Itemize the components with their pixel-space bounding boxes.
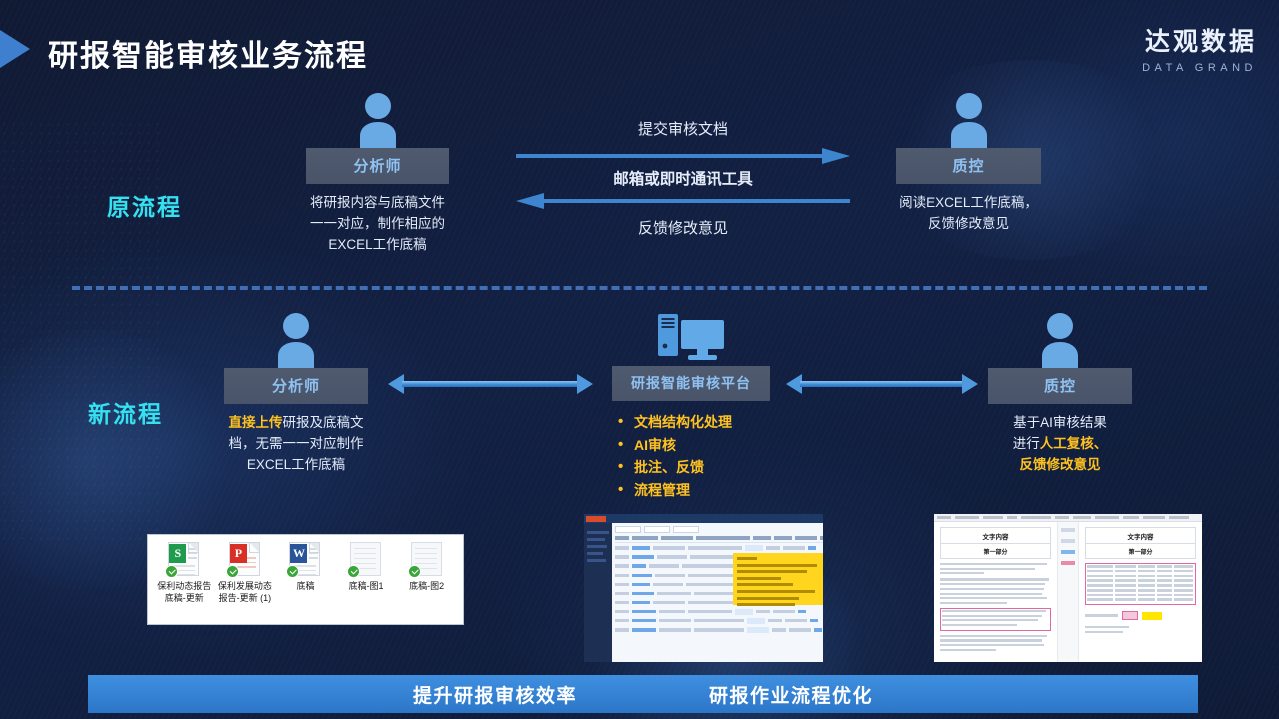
new-flow-row-label: 新流程 [88, 395, 163, 429]
new-flow-analyst-desc-highlight: 直接上传 [229, 415, 283, 430]
new-flow-qc-desc-lead: 基于AI审核结果 [1013, 415, 1107, 430]
role-chip-analyst-old: 分析师 [306, 148, 449, 184]
new-flow-qc-node: 质控 基于AI审核结果进行人工复核、反馈修改意见 [988, 312, 1132, 476]
old-flow-arrow-bottom-label: 反馈修改意见 [516, 217, 850, 238]
file-badge: S [169, 544, 186, 563]
list-item: 文档结构化处理 [612, 411, 770, 434]
list-item: 批注、反馈 [612, 456, 770, 479]
new-flow-qc-desc: 基于AI审核结果进行人工复核、反馈修改意见 [988, 413, 1132, 476]
file-badge: W [290, 544, 307, 563]
list-item: 流程管理 [612, 479, 770, 502]
compare-right-pane: 文字内容 第一部分 [1079, 522, 1202, 662]
spreadsheet-file-icon: S [168, 542, 200, 576]
doc-title-left: 文字内容 [940, 527, 1051, 544]
image-file-icon [350, 542, 382, 576]
old-flow-qc-node: 质控 阅读EXCEL工作底稿，反馈修改意见 [896, 92, 1041, 235]
old-flow-analyst-node: 分析师 将研报内容与底稿文件一一对应，制作相应的EXCEL工作底稿 [306, 92, 449, 256]
role-chip-platform: 研报智能审核平台 [612, 366, 770, 401]
file-name: 底稿 [277, 581, 334, 593]
arrow-right-submit [516, 148, 850, 164]
file-item-spreadsheet[interactable]: S 保利动态报告底稿-更新 [156, 542, 213, 624]
old-flow-qc-desc: 阅读EXCEL工作底稿，反馈修改意见 [896, 193, 1041, 235]
arrow-left-feedback [516, 193, 850, 209]
pdf-file-icon: P [229, 542, 261, 576]
document-compare-screenshot[interactable]: 文字内容 第一部分 文字内容 第一部分 [934, 514, 1202, 662]
file-name: 底稿-图1 [338, 581, 395, 593]
check-icon [226, 565, 239, 578]
new-flow-qc-desc-hl2: 反馈修改意见 [1020, 457, 1101, 472]
doc-subtitle-left: 第一部分 [940, 544, 1051, 559]
new-flow-platform-node: 研报智能审核平台 文档结构化处理 AI审核 批注、反馈 流程管理 [612, 310, 770, 502]
file-name: 底稿-图2 [398, 581, 455, 593]
annotation-tooltip [733, 553, 823, 605]
old-flow-arrow-group: 提交审核文档 邮箱或即时通讯工具 反馈修改意见 [516, 118, 850, 238]
person-icon [1034, 312, 1086, 368]
doc-subtitle-right: 第一部分 [1085, 544, 1196, 559]
list-item: AI审核 [612, 434, 770, 457]
word-file-icon: W [289, 542, 321, 576]
desktop-computer-icon [655, 310, 727, 366]
background-dot-pattern [0, 120, 160, 540]
file-item-word[interactable]: W 底稿 [277, 542, 334, 624]
new-flow-analyst-desc: 直接上传研报及底稿文档，无需一一对应制作EXCEL工作底稿 [224, 413, 368, 476]
new-flow-qc-desc-lead2: 进行 [1013, 436, 1040, 451]
banner-right-text: 研报作业流程优化 [709, 681, 873, 708]
old-flow-row-label: 原流程 [107, 188, 182, 222]
role-chip-qc-old: 质控 [896, 148, 1041, 184]
screenshot-toolbar [934, 514, 1202, 522]
new-flow-analyst-node: 分析师 直接上传研报及底稿文档，无需一一对应制作EXCEL工作底稿 [224, 312, 368, 476]
check-icon [286, 565, 299, 578]
page-title: 研报智能审核业务流程 [48, 31, 368, 75]
brand-logo-en: DATA GRAND [1142, 62, 1257, 74]
file-name: 保利动态报告底稿-更新 [156, 581, 213, 604]
person-icon [943, 92, 995, 148]
old-flow-arrow-middle-label: 邮箱或即时通讯工具 [516, 167, 850, 189]
file-item-image-2[interactable]: 底稿-图2 [398, 542, 455, 624]
flow-divider [72, 286, 1207, 290]
brand-logo: 达观数据 DATA GRAND [1142, 22, 1257, 74]
old-flow-arrow-top-label: 提交审核文档 [516, 118, 850, 139]
check-icon [408, 565, 421, 578]
file-item-image-1[interactable]: 底稿-图1 [338, 542, 395, 624]
bottom-banner: 提升研报审核效率 研报作业流程优化 [88, 675, 1198, 713]
file-name: 保利发展动态报告-更新 (1) [216, 581, 273, 604]
header-triangle-icon [0, 30, 30, 68]
arrow-double-platform-qc [786, 374, 978, 394]
brand-logo-cn: 达观数据 [1142, 22, 1257, 58]
banner-left-text: 提升研报审核效率 [413, 681, 577, 708]
person-icon [270, 312, 322, 368]
file-badge: P [230, 544, 247, 563]
check-icon [165, 565, 178, 578]
check-icon [347, 565, 360, 578]
compare-left-pane: 文字内容 第一部分 [934, 522, 1057, 662]
platform-review-table-screenshot[interactable] [584, 514, 823, 662]
role-chip-qc-new: 质控 [988, 368, 1132, 404]
old-flow-analyst-desc: 将研报内容与底稿文件一一对应，制作相应的EXCEL工作底稿 [306, 193, 449, 256]
uploaded-files-panel[interactable]: S 保利动态报告底稿-更新 P 保利发展动态报告-更新 (1) W 底稿 [147, 534, 464, 625]
person-icon [352, 92, 404, 148]
role-chip-analyst-new: 分析师 [224, 368, 368, 404]
doc-title-right: 文字内容 [1085, 527, 1196, 544]
screenshot-table-area [612, 523, 823, 662]
compare-center-controls[interactable] [1057, 522, 1079, 662]
platform-feature-list: 文档结构化处理 AI审核 批注、反馈 流程管理 [612, 411, 770, 502]
arrow-double-analyst-platform [388, 374, 593, 394]
screenshot-sidebar [584, 523, 612, 662]
new-flow-qc-desc-hl1: 人工复核、 [1040, 436, 1108, 451]
image-file-icon [411, 542, 443, 576]
file-item-pdf[interactable]: P 保利发展动态报告-更新 (1) [216, 542, 273, 624]
screenshot-titlebar [584, 514, 823, 523]
